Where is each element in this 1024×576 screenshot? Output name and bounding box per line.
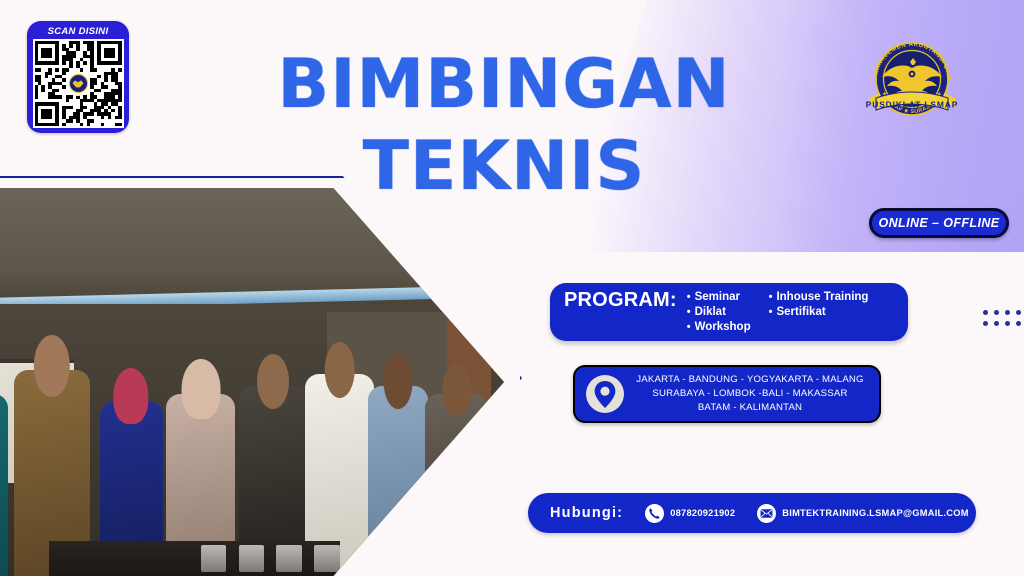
pusdiklat-lsmap-logo: LEMBAGA STUDI MANAJEMEN AKUNTANSI DAN PE… (861, 28, 963, 130)
locations-text: JAKARTA - BANDUNG - YOGYAKARTA - MALANG … (629, 373, 871, 415)
photo-scene (0, 188, 504, 576)
photo-person-hijab (181, 359, 220, 419)
photo-person-head (34, 335, 70, 397)
qr-code-icon[interactable] (33, 39, 124, 128)
photo-glass (201, 545, 226, 572)
program-item-label: Workshop (695, 321, 751, 333)
contact-bar: Hubungi: 087820921902 BIMTEKTRAINING.LSM… (528, 493, 976, 533)
photo-person-head (257, 354, 289, 409)
program-item-label: Seminar (695, 291, 740, 303)
bullet-icon: • (769, 306, 773, 318)
contact-email-value: BIMTEKTRAINING.LSMAP@GMAIL.COM (782, 508, 968, 518)
bullet-icon: • (769, 291, 773, 303)
bullet-icon: • (687, 306, 691, 318)
program-item-label: Sertifikat (776, 306, 825, 318)
contact-phone-value: 087820921902 (670, 508, 735, 518)
photo-glass (239, 545, 264, 572)
program-label: PROGRAM: (564, 290, 677, 310)
photo-person (0, 394, 8, 576)
program-box: PROGRAM: •Seminar •Diklat •Workshop •Inh… (550, 283, 908, 341)
phone-icon (645, 504, 664, 523)
title-line-1: BIMBINGAN (277, 45, 730, 124)
program-item-label: Diklat (695, 306, 726, 318)
location-pin-icon (585, 374, 625, 414)
program-item-label: Inhouse Training (776, 291, 868, 303)
qr-label: SCAN DISINI (48, 24, 109, 39)
photo-glass (276, 545, 301, 572)
list-item: •Seminar (687, 290, 751, 305)
photo-person-hijab (113, 368, 148, 424)
photo-person-head (442, 363, 471, 416)
location-line: BATAM - KALIMANTAN (629, 401, 871, 415)
photo-glass (314, 545, 339, 572)
list-item: •Sertifikat (769, 305, 869, 320)
garuda-emblem-icon (66, 72, 90, 96)
contact-label: Hubungi: (550, 505, 623, 521)
bullet-icon: • (687, 291, 691, 303)
location-line: SURABAYA - LOMBOK -BALI - MAKASSAR (629, 387, 871, 401)
contact-email[interactable]: BIMTEKTRAINING.LSMAP@GMAIL.COM (757, 504, 968, 523)
locations-box: JAKARTA - BANDUNG - YOGYAKARTA - MALANG … (573, 365, 881, 423)
photo-person-head (324, 342, 355, 398)
bullet-icon: • (687, 321, 691, 333)
dot-grid-decoration (983, 310, 1024, 332)
title-line-2: TEKNIS (254, 126, 754, 208)
seminar-group-photo (0, 188, 504, 576)
contact-phone[interactable]: 087820921902 (645, 504, 735, 523)
location-line: JAKARTA - BANDUNG - YOGYAKARTA - MALANG (629, 373, 871, 387)
list-item: •Diklat (687, 305, 751, 320)
status-badge-mode[interactable]: ONLINE – OFFLINE (869, 208, 1009, 238)
page-title: BIMBINGAN TEKNIS (254, 44, 754, 208)
poster-canvas: SCAN DISINI LEMBAGA STUDI MANAJEMEN AKUN… (0, 0, 1024, 576)
program-column-1: •Seminar •Diklat •Workshop (687, 290, 751, 335)
photo-person-head (384, 354, 413, 409)
svg-text:PUSDIKLAT LSMAP: PUSDIKLAT LSMAP (866, 100, 958, 110)
program-columns: •Seminar •Diklat •Workshop •Inhouse Trai… (687, 290, 869, 335)
envelope-icon (757, 504, 776, 523)
list-item: •Workshop (687, 320, 751, 335)
status-badge-label: ONLINE – OFFLINE (879, 216, 1000, 230)
list-item: •Inhouse Training (769, 290, 869, 305)
program-column-2: •Inhouse Training •Sertifikat (769, 290, 869, 335)
qr-scan-card[interactable]: SCAN DISINI (27, 21, 129, 133)
